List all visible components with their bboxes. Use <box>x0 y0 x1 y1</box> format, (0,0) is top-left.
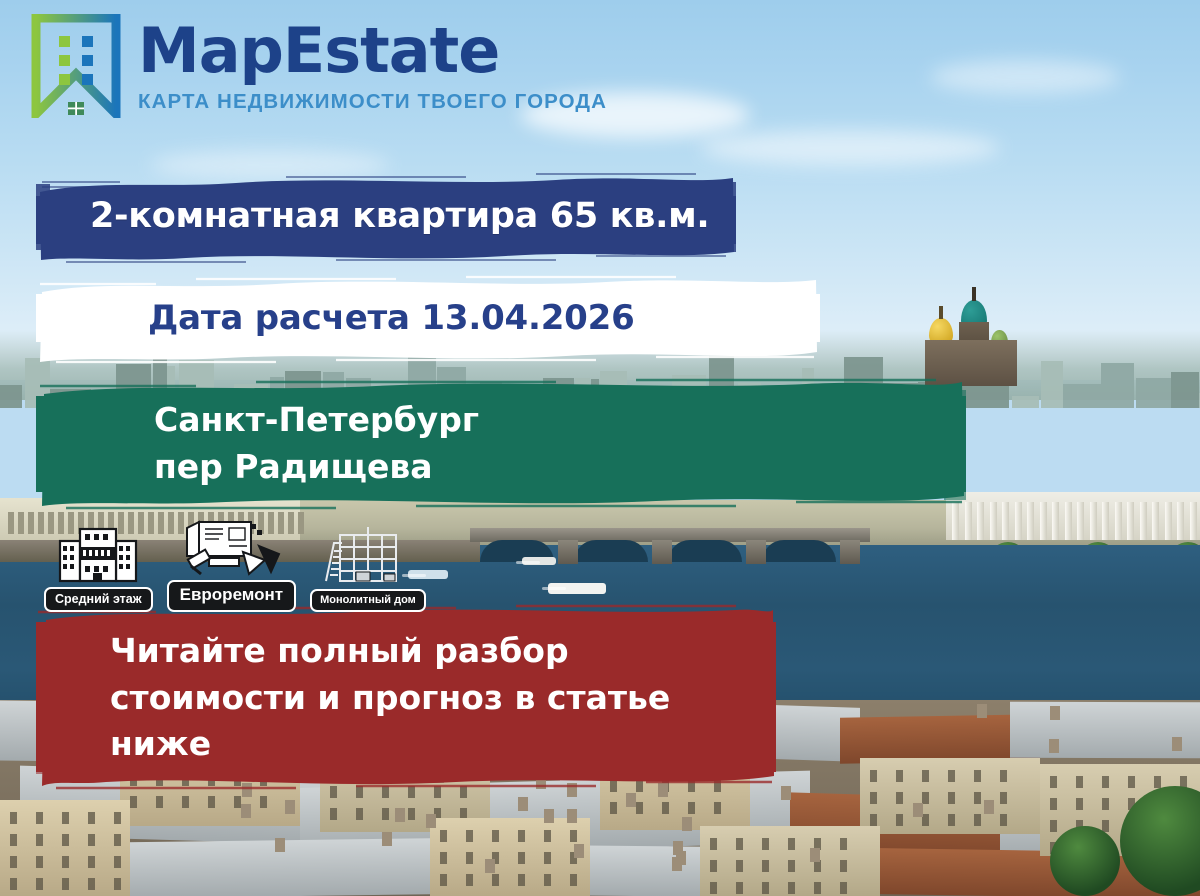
bookmark-building-icon <box>30 14 122 118</box>
property-title-banner: 2-комнатная квартира 65 кв.м. <box>36 166 736 266</box>
brand-logo[interactable]: MapEstate КАРТА НЕДВИЖИМОСТИ ТВОЕГО ГОРО… <box>30 14 607 118</box>
badge-label: Монолитный дом <box>310 589 426 612</box>
badge-label: Средний этаж <box>44 587 153 612</box>
boat <box>522 557 556 565</box>
boat <box>548 583 606 594</box>
construction-scaffold-icon <box>322 525 414 587</box>
calculation-date-banner: Дата расчета 13.04.2026 <box>36 272 820 364</box>
church-savior-spilled-blood-icon <box>915 282 1035 390</box>
brand-name: MapEstate <box>138 20 607 82</box>
cloud <box>930 60 1120 94</box>
address-street: пер Радищева <box>154 444 966 491</box>
badge-label: Евроремонт <box>167 580 297 612</box>
cta-banner[interactable]: Читайте полный разбор стоимости и прогно… <box>36 604 776 792</box>
address-city: Санкт-Петербург <box>154 397 966 444</box>
property-title-text: 2-комнатная квартира 65 кв.м. <box>36 196 736 236</box>
property-promo-poster: MapEstate КАРТА НЕДВИЖИМОСТИ ТВОЕГО ГОРО… <box>0 0 1200 896</box>
colonnaded-building <box>946 492 1200 540</box>
cta-line-1: Читайте полный разбор <box>110 628 776 675</box>
badge-middle-floor[interactable]: Средний этаж <box>44 523 153 612</box>
cloud <box>700 130 1000 166</box>
apartment-building-icon <box>56 523 140 585</box>
badge-monolithic-house[interactable]: Монолитный дом <box>310 525 426 612</box>
cta-text: Читайте полный разбор стоимости и прогно… <box>36 628 776 769</box>
badge-euro-renovation[interactable]: Евроремонт <box>167 516 297 612</box>
calculation-date-text: Дата расчета 13.04.2026 <box>36 298 820 338</box>
address-text: Санкт-Петербург пер Радищева <box>36 397 966 491</box>
feature-badges: Средний этаж <box>44 516 426 612</box>
cta-line-3: ниже <box>110 721 776 768</box>
cta-line-2: стоимости и прогноз в статье <box>110 675 776 722</box>
renovation-tools-icon <box>179 516 283 578</box>
address-banner: Санкт-Петербург пер Радищева <box>36 376 966 511</box>
brand-tagline: КАРТА НЕДВИЖИМОСТИ ТВОЕГО ГОРОДА <box>138 90 607 114</box>
